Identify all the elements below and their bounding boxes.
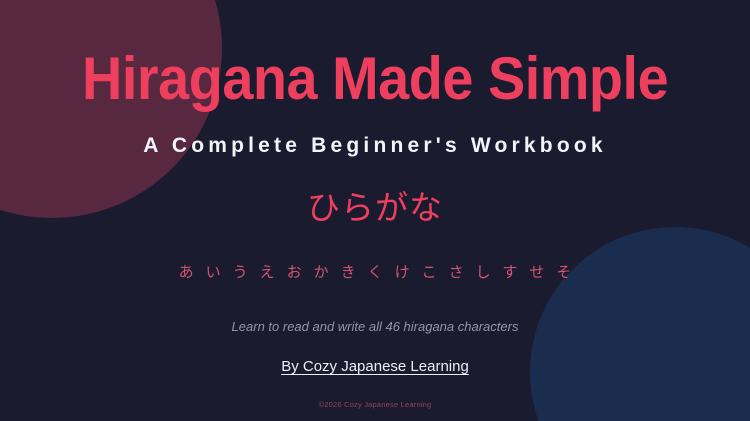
cover-byline: By Cozy Japanese Learning [281, 334, 469, 375]
japanese-character-row: あいうえおかきくけこさしすせそ [167, 229, 584, 282]
book-cover: Hiragana Made Simple A Complete Beginner… [0, 0, 750, 421]
cover-subtitle: A Complete Beginner's Workbook [143, 109, 607, 158]
japanese-word-hiragana: ひらがな [307, 158, 443, 229]
cover-title: Hiragana Made Simple [82, 0, 668, 109]
cover-content: Hiragana Made Simple A Complete Beginner… [0, 0, 750, 421]
cover-tagline: Learn to read and write all 46 hiragana … [232, 282, 519, 334]
cover-copyright: ©2026 Cozy Japanese Learning [319, 375, 432, 409]
